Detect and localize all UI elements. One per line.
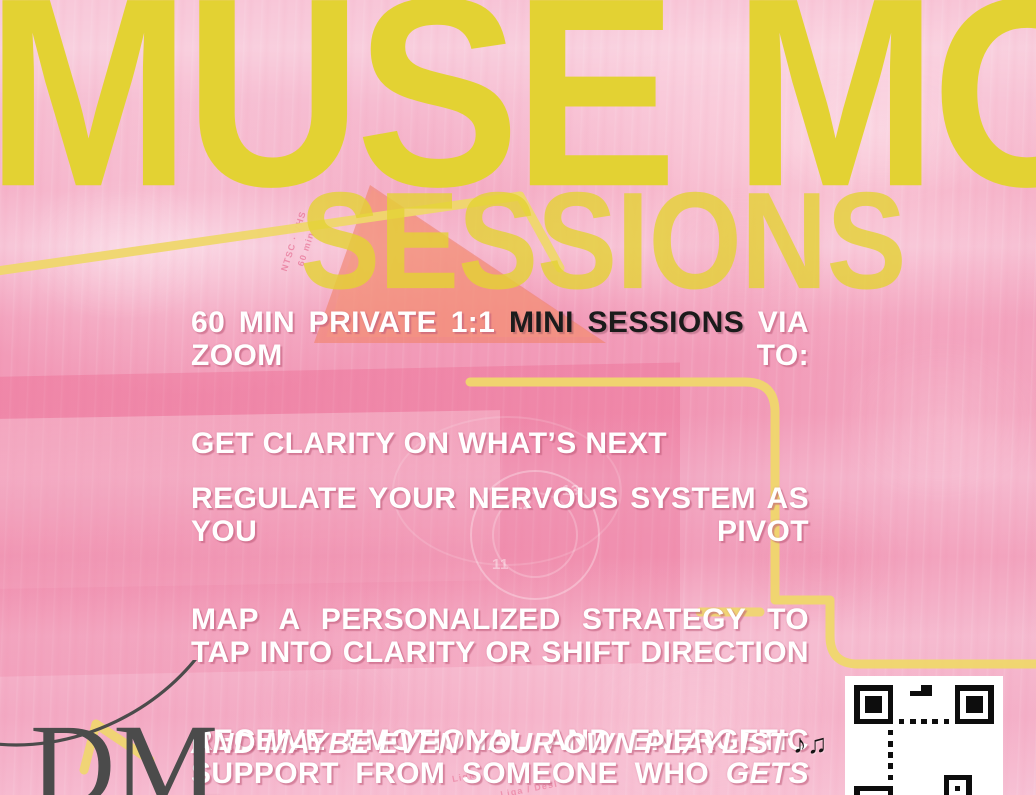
benefit-text: GET CLARITY ON WHAT’S NEXT	[191, 427, 667, 460]
benefit-text: MAP A PERSONALIZED STRATEGY TO TAP INTO …	[191, 603, 809, 669]
qr-code[interactable]	[845, 676, 1003, 795]
intro-pre: 60 MIN PRIVATE 1:1	[191, 306, 509, 339]
qr-code-modules	[854, 685, 994, 795]
intro-emphasis: MINI SESSIONS	[509, 306, 744, 339]
benefit-text: REGULATE YOUR NERVOUS SYSTEM AS YOU PIVO…	[191, 482, 809, 548]
brand-logo: DM	[0, 660, 260, 795]
benefit-item: GET CLARITY ON WHAT’S NEXT	[191, 427, 809, 460]
benefit-item: REGULATE YOUR NERVOUS SYSTEM AS YOU PIVO…	[191, 482, 809, 581]
poster-canvas: 11 12 13 NTSC · VHS 60 min Liga Liga / D…	[0, 0, 1036, 795]
page-subtitle: SESSIONS	[300, 172, 906, 310]
benefits-copy: 60 MIN PRIVATE 1:1 MINI SESSIONS VIA ZOO…	[191, 306, 809, 795]
playlist-line: AND MAYBE EVEN YOUR OWN PLAYLIST♪♫	[191, 728, 828, 760]
benefit-item: MAP A PERSONALIZED STRATEGY TO TAP INTO …	[191, 603, 809, 702]
logo-monogram: DM	[30, 710, 216, 795]
playlist-text: AND MAYBE EVEN YOUR OWN PLAYLIST	[191, 728, 787, 760]
music-notes-icon: ♪♫	[793, 729, 828, 759]
intro-line: 60 MIN PRIVATE 1:1 MINI SESSIONS VIA ZOO…	[191, 306, 809, 405]
